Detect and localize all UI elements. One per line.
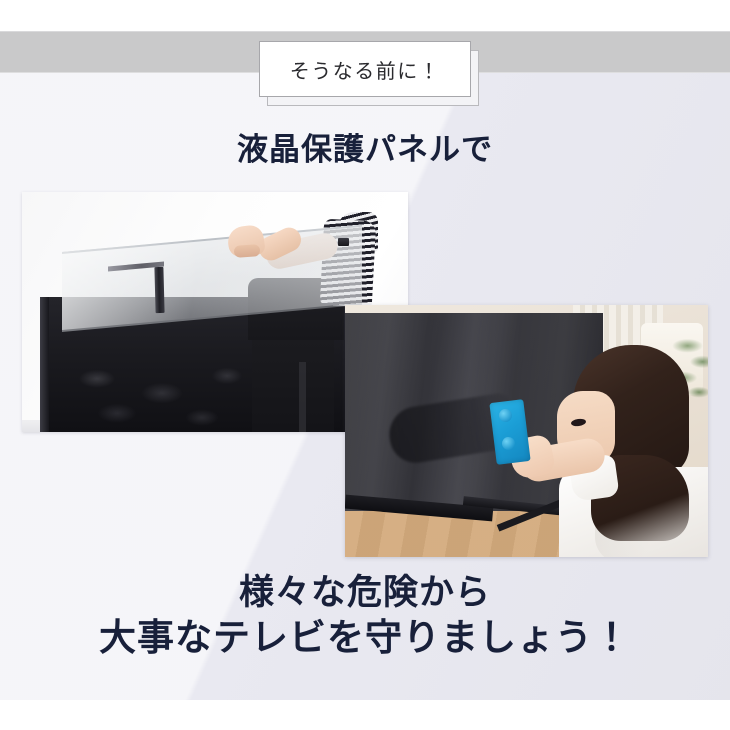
ribbon-text: そうなる前に！: [290, 55, 441, 84]
left-photo-tv-bezel: [40, 297, 49, 432]
ribbon-front-frame: そうなる前に！: [259, 41, 471, 97]
ribbon-label: そうなる前に！: [259, 41, 479, 103]
tagline: 様々な危険から 大事なテレビを守りましょう！: [0, 572, 730, 660]
bottom-white-band: [0, 700, 730, 730]
left-photo-panel-clip-right: [338, 238, 349, 246]
tagline-line-2: 大事なテレビを守りましょう！: [0, 615, 730, 660]
left-photo-person-legs: [252, 328, 334, 432]
photo-child-touching-tv: [345, 305, 708, 557]
left-photo-panel-clip: [154, 267, 164, 313]
advertisement-canvas: そうなる前に！ 液晶保護パネルで: [0, 0, 730, 730]
left-photo-leg-gap: [299, 362, 306, 432]
top-white-band: [0, 0, 730, 31]
left-photo-fingers: [234, 244, 261, 258]
headline-text: 液晶保護パネルで: [0, 124, 730, 169]
tagline-line-1: 様々な危険から: [0, 572, 730, 615]
